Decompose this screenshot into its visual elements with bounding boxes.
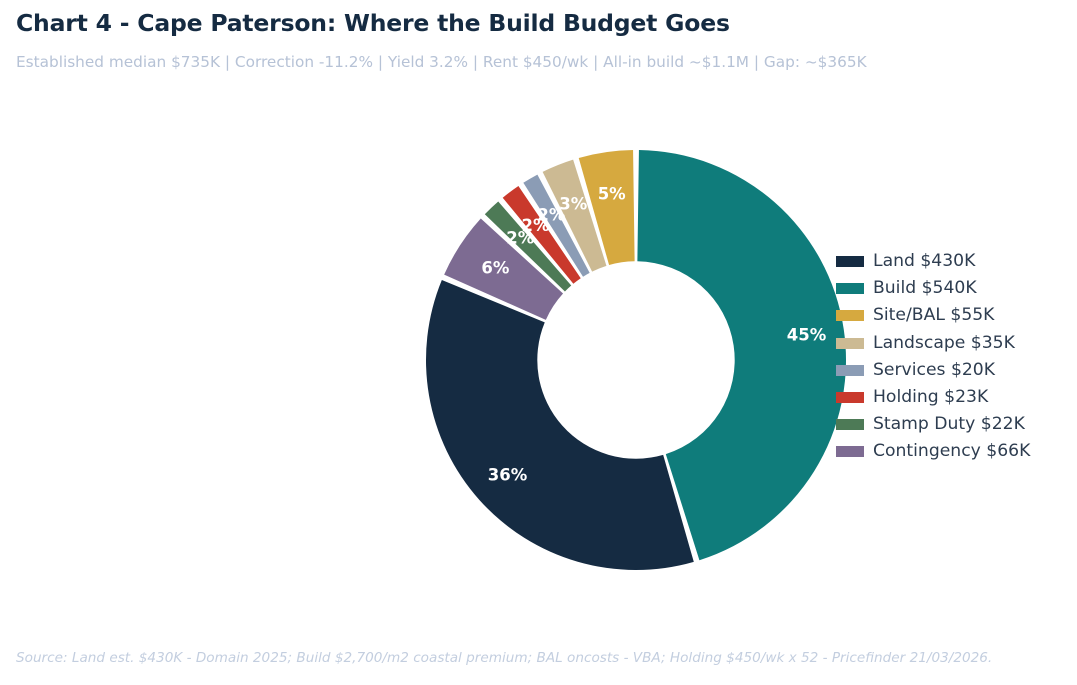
donut-slices-group <box>426 150 846 570</box>
chart-subtitle: Established median $735K | Correction -1… <box>16 53 867 71</box>
donut-slice-land[interactable] <box>426 280 694 570</box>
legend-item-label: Land $430K <box>873 253 975 270</box>
slice-percent-label: 5% <box>598 184 626 203</box>
slice-percent-label: 45% <box>787 325 827 344</box>
legend-swatch-icon <box>836 283 864 294</box>
legend-swatch-icon <box>836 446 864 457</box>
legend-item-landscape[interactable]: Landscape $35K <box>836 330 1076 357</box>
legend-item-land[interactable]: Land $430K <box>836 248 1076 275</box>
legend-item-label: Holding $23K <box>873 389 988 406</box>
chart-source-note: Source: Land est. $430K - Domain 2025; B… <box>16 650 992 666</box>
slice-percent-label: 36% <box>488 465 528 484</box>
chart-legend: Land $430KBuild $540KSite/BAL $55KLandsc… <box>836 248 1076 466</box>
chart-page: Chart 4 - Cape Paterson: Where the Build… <box>0 0 1077 685</box>
legend-swatch-icon <box>836 419 864 430</box>
legend-swatch-icon <box>836 392 864 403</box>
legend-swatch-icon <box>836 256 864 267</box>
legend-item-label: Site/BAL $55K <box>873 307 994 324</box>
legend-item-label: Landscape $35K <box>873 335 1015 352</box>
legend-item-holding[interactable]: Holding $23K <box>836 384 1076 411</box>
legend-item-contingency[interactable]: Contingency $66K <box>836 438 1076 465</box>
legend-item-label: Contingency $66K <box>873 443 1030 460</box>
legend-item-build[interactable]: Build $540K <box>836 275 1076 302</box>
legend-swatch-icon <box>836 338 864 349</box>
legend-item-services[interactable]: Services $20K <box>836 357 1076 384</box>
legend-swatch-icon <box>836 365 864 376</box>
page-title: Chart 4 - Cape Paterson: Where the Build… <box>16 9 730 37</box>
slice-percent-label: 6% <box>481 259 509 278</box>
legend-item-label: Stamp Duty $22K <box>873 416 1025 433</box>
legend-item-label: Build $540K <box>873 280 977 297</box>
legend-item-stamp-duty[interactable]: Stamp Duty $22K <box>836 411 1076 438</box>
legend-item-label: Services $20K <box>873 362 995 379</box>
legend-item-site-bal[interactable]: Site/BAL $55K <box>836 302 1076 329</box>
slice-percent-label: 3% <box>559 195 587 214</box>
legend-swatch-icon <box>836 310 864 321</box>
